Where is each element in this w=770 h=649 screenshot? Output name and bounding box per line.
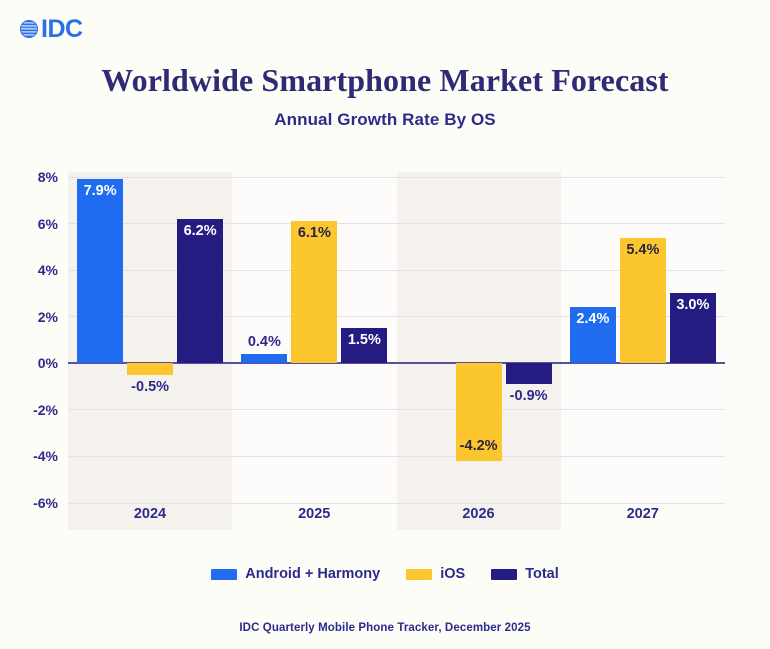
y-tick-label: -6% <box>14 495 58 511</box>
legend-label: Android + Harmony <box>245 566 380 582</box>
x-tick-label-2024: 2024 <box>68 506 232 522</box>
chart-title: Worldwide Smartphone Market Forecast <box>0 62 770 99</box>
chart-subtitle: Annual Growth Rate By OS <box>0 110 770 130</box>
legend-label: iOS <box>440 566 465 582</box>
x-tick-label-2026: 2026 <box>397 506 561 522</box>
bar-value-label: 1.5% <box>329 332 399 348</box>
legend-swatch <box>211 569 237 580</box>
legend-item-ios[interactable]: iOS <box>406 566 465 582</box>
bar-android-harmony-2024[interactable] <box>77 179 123 363</box>
y-axis: 8%6%4%2%0%-2%-4%-6% <box>10 172 58 512</box>
bar-value-label: 3.0% <box>658 297 728 313</box>
bars-layer: 7.9%-0.5%6.2%0.4%6.1%1.5%-4.2%-0.9%2.4%5… <box>68 172 725 530</box>
idc-logo: IDC <box>18 16 83 42</box>
y-tick-label: -4% <box>14 448 58 464</box>
y-tick-label: -2% <box>14 402 58 418</box>
y-tick-label: 2% <box>14 309 58 325</box>
y-tick-label: 6% <box>14 216 58 232</box>
legend-label: Total <box>525 566 559 582</box>
bar-value-label: -4.2% <box>444 438 514 454</box>
bar-value-label: 7.9% <box>65 183 135 199</box>
legend-item-total[interactable]: Total <box>491 566 559 582</box>
legend-swatch <box>406 569 432 580</box>
source-note: IDC Quarterly Mobile Phone Tracker, Dece… <box>0 622 770 634</box>
bar-value-label: 6.1% <box>279 225 349 241</box>
idc-globe-icon <box>18 18 40 40</box>
bar-android-harmony-2025[interactable] <box>241 354 287 363</box>
bar-value-label: 5.4% <box>608 242 678 258</box>
x-axis-labels: 2024202520262027 <box>68 506 725 532</box>
bar-value-label: 0.4% <box>229 334 299 350</box>
x-tick-label-2027: 2027 <box>561 506 725 522</box>
chart-legend: Android + HarmonyiOSTotal <box>0 566 770 582</box>
y-tick-label: 8% <box>14 169 58 185</box>
idc-logo-text: IDC <box>41 18 83 40</box>
legend-swatch <box>491 569 517 580</box>
bar-value-label: -0.9% <box>494 388 564 404</box>
legend-item-android-harmony[interactable]: Android + Harmony <box>211 566 380 582</box>
bar-value-label: 2.4% <box>558 311 628 327</box>
y-tick-label: 0% <box>14 355 58 371</box>
bar-value-label: 6.2% <box>165 223 235 239</box>
y-tick-label: 4% <box>14 262 58 278</box>
bar-ios-2024[interactable] <box>127 363 173 375</box>
bar-total-2024[interactable] <box>177 219 223 363</box>
bar-total-2026[interactable] <box>506 363 552 384</box>
x-tick-label-2025: 2025 <box>232 506 396 522</box>
bar-value-label: -0.5% <box>115 379 185 395</box>
plot-area: 7.9%-0.5%6.2%0.4%6.1%1.5%-4.2%-0.9%2.4%5… <box>68 172 725 530</box>
